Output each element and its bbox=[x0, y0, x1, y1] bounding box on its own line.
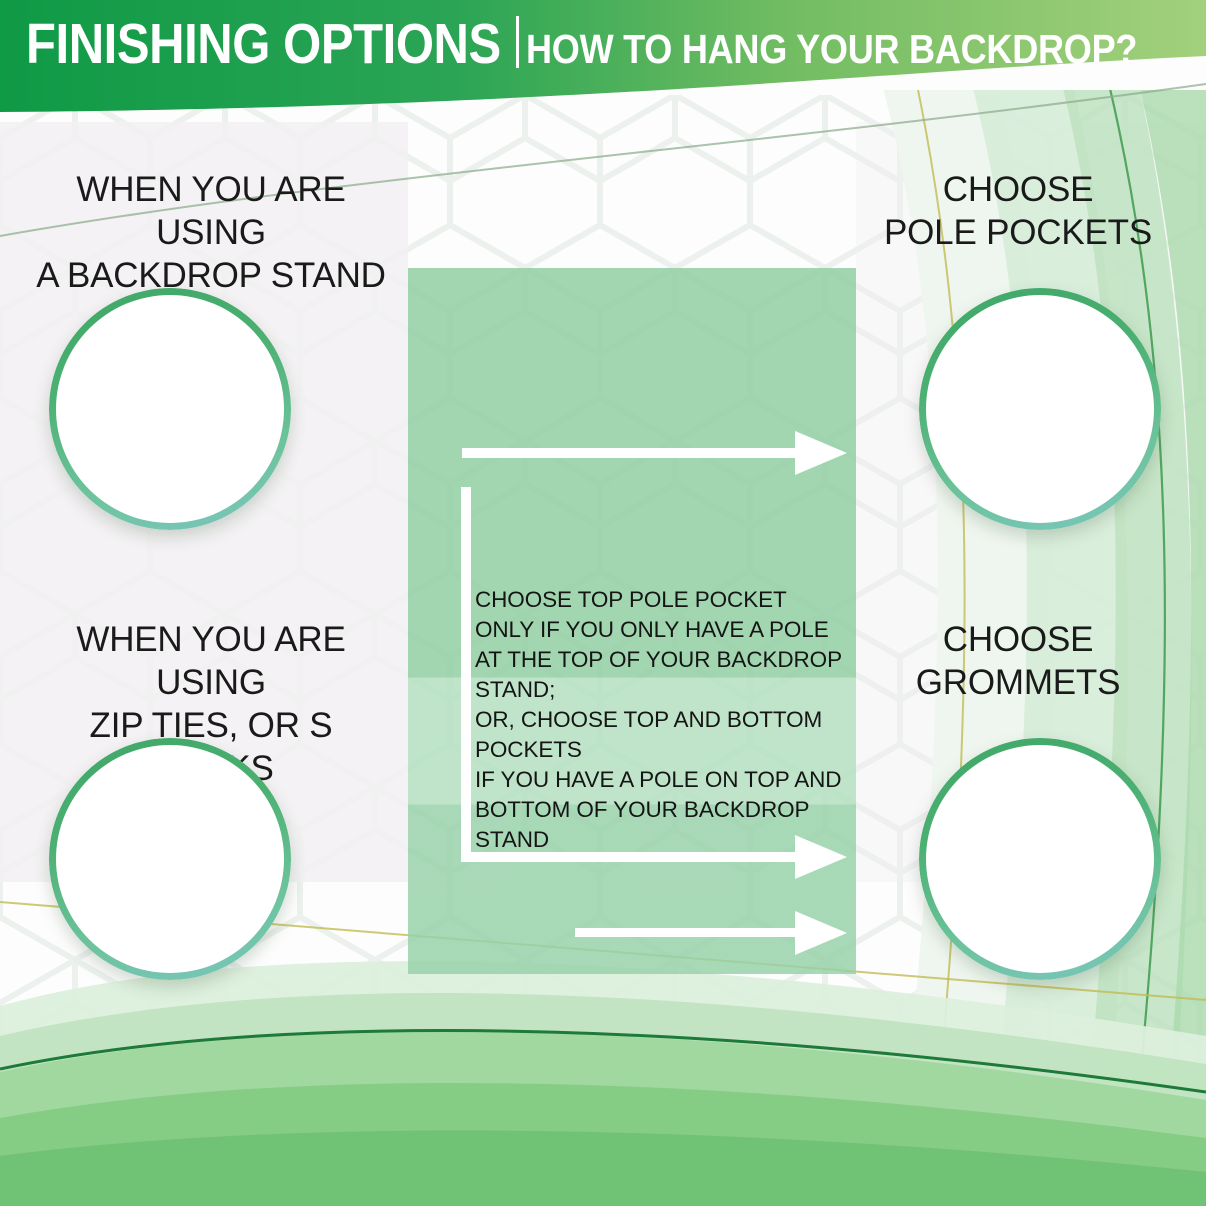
s-hooks-zip-ties-ring bbox=[49, 738, 291, 980]
pole-pocket-fabric-photo bbox=[919, 288, 1161, 530]
s-hooks-zip-ties-photo bbox=[49, 738, 291, 980]
arrow-stand-to-pole-pockets-head bbox=[795, 431, 847, 475]
heading-grommets: CHOOSE GROMMETS bbox=[848, 618, 1188, 704]
heading-backdrop-stand: WHEN YOU ARE USING A BACKDROP STAND bbox=[26, 168, 396, 297]
arrow-elbow-vertical-segment bbox=[461, 487, 471, 862]
pole-pocket-ring bbox=[919, 288, 1161, 530]
center-instruction-text: CHOOSE TOP POLE POCKET ONLY IF YOU ONLY … bbox=[475, 585, 855, 855]
arrow-stand-to-pole-pockets-shaft bbox=[462, 448, 797, 458]
arrow-ziptie-to-grommets-head bbox=[795, 911, 847, 955]
arrow-ziptie-to-grommets-shaft bbox=[575, 928, 797, 937]
page-title: FINISHING OPTIONS bbox=[26, 11, 501, 77]
grommet-eyelet-photo bbox=[919, 738, 1161, 980]
heading-pole-pockets: CHOOSE POLE POCKETS bbox=[848, 168, 1188, 254]
backdrop-stand-ring bbox=[49, 288, 291, 530]
infographic-canvas: FINISHING OPTIONS HOW TO HANG YOUR BACKD… bbox=[0, 0, 1206, 1206]
title-divider-bar bbox=[516, 16, 519, 68]
header-banner: FINISHING OPTIONS HOW TO HANG YOUR BACKD… bbox=[0, 0, 1206, 122]
header-title-group: FINISHING OPTIONS HOW TO HANG YOUR BACKD… bbox=[26, 11, 1206, 77]
backdrop-stand-photo bbox=[49, 288, 291, 530]
page-subtitle: HOW TO HANG YOUR BACKDROP? bbox=[526, 26, 1137, 73]
grommet-ring bbox=[919, 738, 1161, 980]
